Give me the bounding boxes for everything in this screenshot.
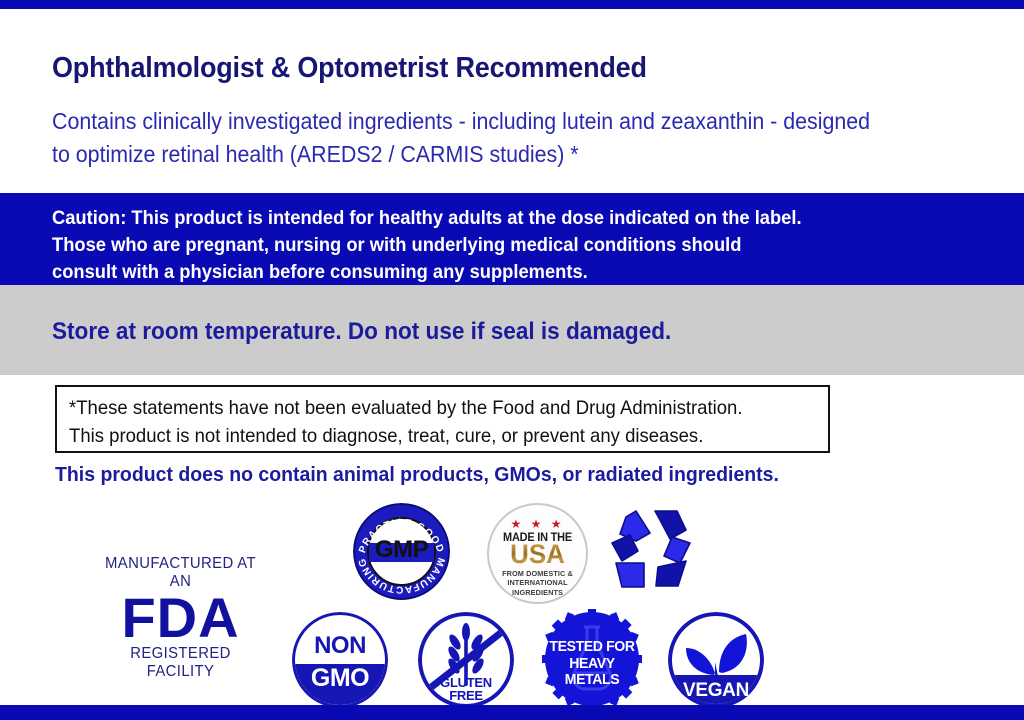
tested-heavy-metals-badge: TESTED FOR HEAVY METALS <box>542 609 642 709</box>
made-in-usa-badge: ★ ★ ★ MADE IN THE USA FROM DOMESTIC & IN… <box>487 503 588 604</box>
gmp-seal-icon: GMP PRACTICE GOOD MANUFACTURING <box>353 503 450 600</box>
fda-badge-acronym: FDA <box>98 592 263 644</box>
non-gmo-bottom-text: GMO <box>292 664 388 693</box>
caution-keyword: Caution: <box>52 207 126 229</box>
top-accent-bar <box>0 0 1024 9</box>
no-animal-products-text: This product does no contain animal prod… <box>55 463 779 487</box>
tested-line-2: HEAVY METALS <box>545 656 638 689</box>
storage-text: Store at room temperature. Do not use if… <box>52 318 671 346</box>
caution-text: Caution: This product is intended for he… <box>52 205 804 286</box>
bottom-accent-bar <box>0 705 1024 720</box>
header-section: Ophthalmologist & Optometrist Recommende… <box>0 9 1024 193</box>
fda-badge-bottom-text: REGISTERED FACILITY <box>101 645 259 681</box>
tested-heavy-metals-text: TESTED FOR HEAVY METALS <box>545 639 638 689</box>
usa-ingredients-text: FROM DOMESTIC & INTERNATIONAL INGREDIENT… <box>495 569 580 597</box>
storage-band: Store at room temperature. Do not use if… <box>0 285 1024 375</box>
usa-stars-icon: ★ ★ ★ <box>489 518 586 530</box>
gluten-free-badge: GLUTEN FREE <box>418 612 514 708</box>
vegan-text: VEGAN <box>668 680 764 702</box>
svg-text:PRACTICE GOOD: PRACTICE GOOD <box>357 517 446 554</box>
non-gmo-badge: NON GMO <box>292 612 388 708</box>
supplement-label-panel: Ophthalmologist & Optometrist Recommende… <box>0 0 1024 720</box>
caution-body: This product is intended for healthy adu… <box>52 207 802 283</box>
gmp-arc-text: PRACTICE GOOD MANUFACTURING <box>353 503 450 600</box>
non-gmo-top-text: NON <box>292 632 388 660</box>
gluten-free-line-2: FREE <box>418 689 514 702</box>
fda-registered-facility-badge: MANUFACTURED AT AN FDA REGISTERED FACILI… <box>98 555 263 681</box>
recycle-icon <box>600 503 700 600</box>
disclaimer-line-1: *These statements have not been evaluate… <box>69 399 743 419</box>
header-subtitle: Contains clinically investigated ingredi… <box>52 105 870 170</box>
vegan-badge: VEGAN <box>668 612 764 708</box>
fda-badge-top-text: MANUFACTURED AT AN <box>101 555 259 591</box>
usa-country-text: USA <box>491 541 584 568</box>
fda-disclaimer-box: *These statements have not been evaluate… <box>55 385 830 453</box>
tested-line-1: TESTED FOR <box>545 639 638 656</box>
non-gmo-circle <box>292 612 388 708</box>
svg-text:MANUFACTURING: MANUFACTURING <box>357 556 447 595</box>
caution-band: Caution: This product is intended for he… <box>0 193 1024 285</box>
gluten-free-line-1: GLUTEN <box>418 676 514 689</box>
disclaimer-line-2: This product is not intended to diagnose… <box>69 427 703 447</box>
certification-badges: MANUFACTURED AT AN FDA REGISTERED FACILI… <box>0 495 1024 705</box>
page-title: Ophthalmologist & Optometrist Recommende… <box>52 52 647 85</box>
gluten-free-text: GLUTEN FREE <box>418 676 514 703</box>
